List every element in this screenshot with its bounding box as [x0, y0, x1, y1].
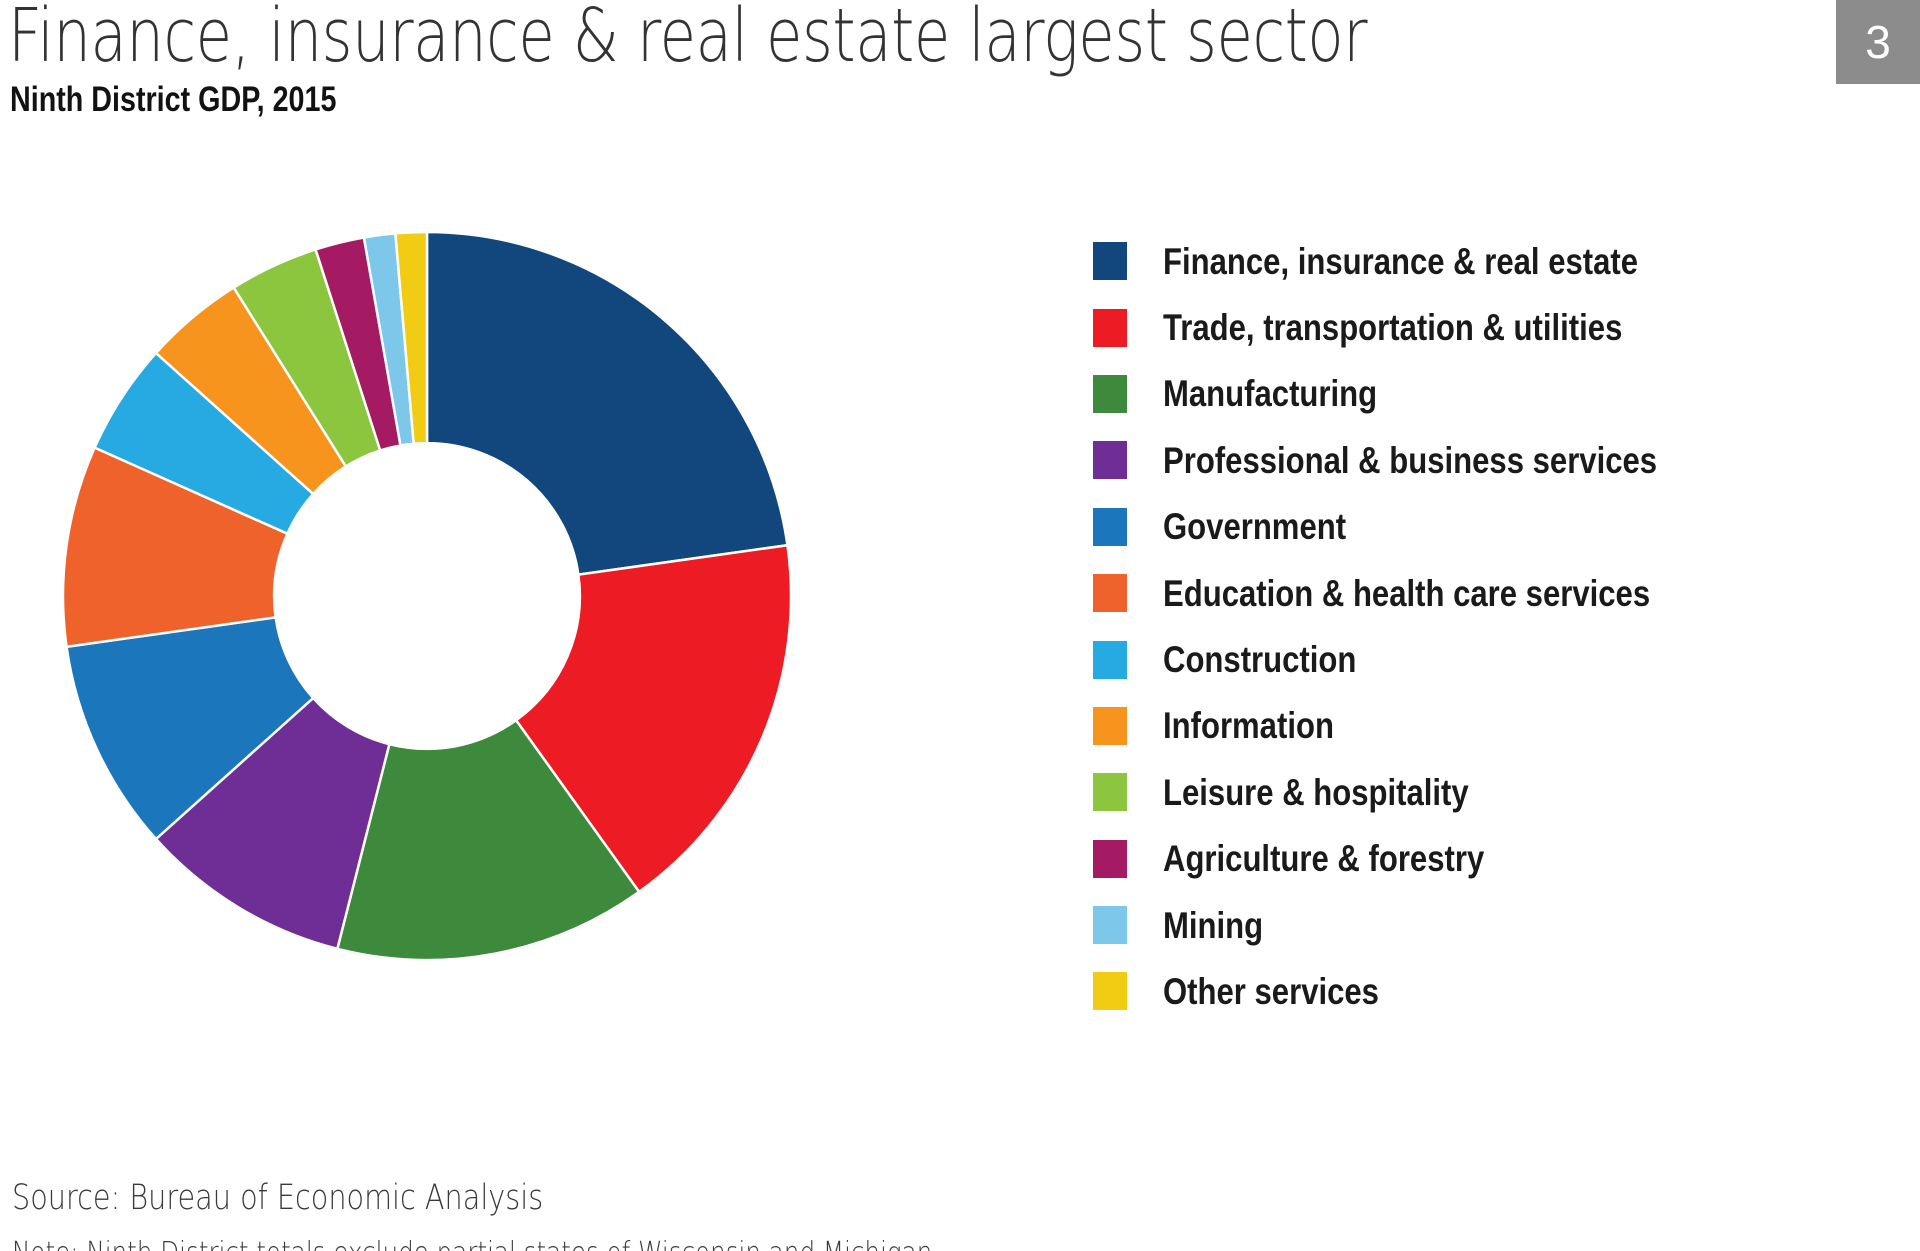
legend-item-label: Finance, insurance & real estate	[1163, 243, 1638, 280]
legend-item[interactable]: Agriculture & forestry	[1093, 826, 1893, 892]
legend-item[interactable]: Mining	[1093, 892, 1893, 958]
legend-color-swatch	[1093, 707, 1127, 745]
legend-color-swatch	[1093, 641, 1127, 679]
legend-item[interactable]: Other services	[1093, 958, 1893, 1024]
donut-chart-svg	[55, 168, 805, 1028]
page-number-badge: 3	[1836, 0, 1920, 84]
legend-item-label: Education & health care services	[1163, 575, 1650, 612]
source-caption: Source: Bureau of Economic Analysis	[12, 1178, 543, 1218]
legend-item-label: Manufacturing	[1163, 375, 1377, 412]
donut-chart	[55, 168, 805, 1028]
legend-item-label: Information	[1163, 707, 1334, 744]
chart-legend: Finance, insurance & real estateTrade, t…	[1093, 228, 1893, 1025]
legend-item-label: Mining	[1163, 907, 1263, 944]
source-note-caption-clipped: Note: Ninth District totals exclude part…	[12, 1236, 932, 1251]
legend-item-label: Trade, transportation & utilities	[1163, 309, 1622, 346]
legend-item-label: Government	[1163, 508, 1346, 545]
donut-slice-group	[63, 232, 791, 960]
legend-color-swatch	[1093, 309, 1127, 347]
legend-item[interactable]: Manufacturing	[1093, 361, 1893, 427]
legend-item[interactable]: Education & health care services	[1093, 560, 1893, 626]
legend-item-label: Other services	[1163, 973, 1379, 1010]
donut-slice[interactable]	[427, 232, 787, 575]
legend-color-swatch	[1093, 574, 1127, 612]
legend-item[interactable]: Leisure & hospitality	[1093, 759, 1893, 825]
legend-color-swatch	[1093, 441, 1127, 479]
legend-item-label: Leisure & hospitality	[1163, 774, 1469, 811]
legend-item[interactable]: Government	[1093, 494, 1893, 560]
legend-color-swatch	[1093, 906, 1127, 944]
legend-item[interactable]: Finance, insurance & real estate	[1093, 228, 1893, 294]
legend-item[interactable]: Professional & business services	[1093, 427, 1893, 493]
legend-item[interactable]: Construction	[1093, 626, 1893, 692]
page-subtitle: Ninth District GDP, 2015	[10, 80, 336, 120]
legend-color-swatch	[1093, 840, 1127, 878]
legend-item-label: Professional & business services	[1163, 442, 1657, 479]
page-number-text: 3	[1865, 15, 1891, 69]
legend-color-swatch	[1093, 242, 1127, 280]
legend-item-label: Construction	[1163, 641, 1356, 678]
legend-item[interactable]: Information	[1093, 693, 1893, 759]
legend-color-swatch	[1093, 972, 1127, 1010]
legend-item[interactable]: Trade, transportation & utilities	[1093, 294, 1893, 360]
page-title: Finance, insurance & real estate largest…	[8, 0, 1367, 79]
legend-color-swatch	[1093, 773, 1127, 811]
legend-color-swatch	[1093, 508, 1127, 546]
legend-item-label: Agriculture & forestry	[1163, 840, 1484, 877]
legend-color-swatch	[1093, 375, 1127, 413]
